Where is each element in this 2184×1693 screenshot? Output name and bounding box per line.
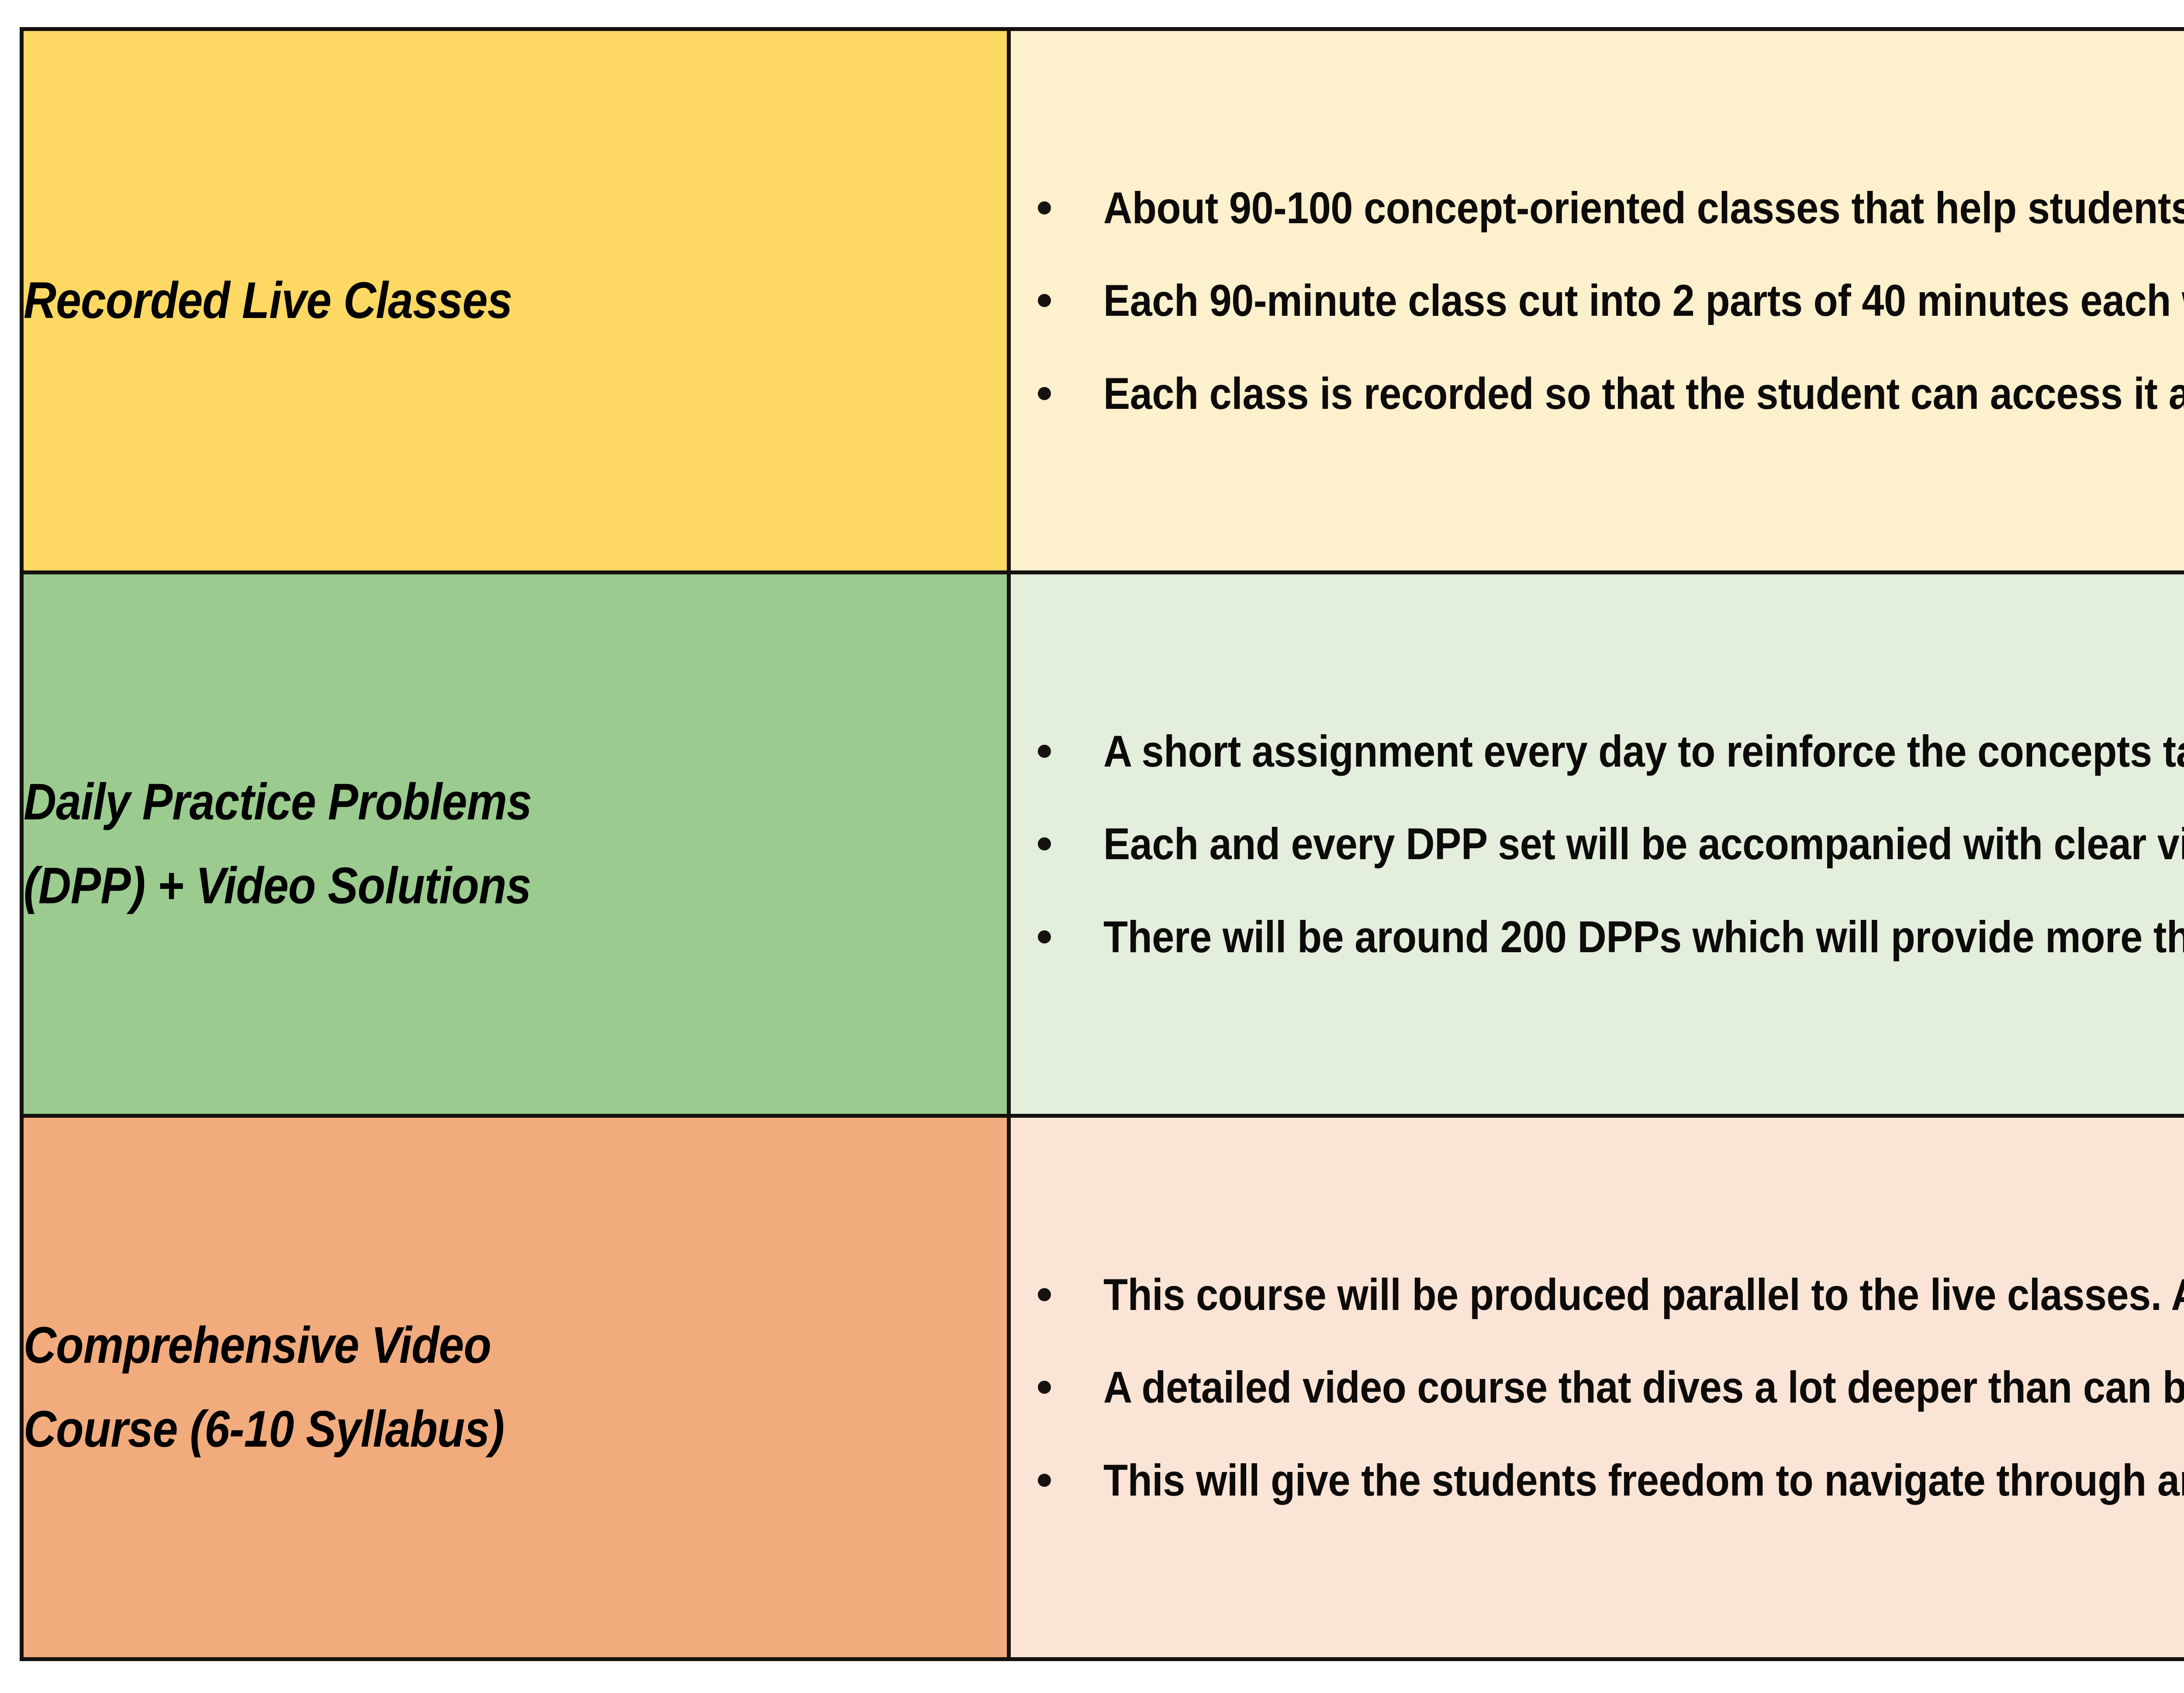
feature-label-comprehensive-video-course: Comprehensive Video Course (6-10 Syllabu…: [24, 1304, 889, 1471]
list-item: There will be around 200 DPPs which will…: [1011, 912, 2184, 962]
feature-detail-cell-comprehensive-video-course: This course will be produced parallel to…: [1009, 1116, 2184, 1659]
bullet-text: A detailed video course that dives a lot…: [1103, 1362, 2184, 1412]
bullet-point-icon: [1038, 201, 1051, 214]
bullet-text: This course will be produced parallel to…: [1103, 1270, 2184, 1320]
bullet-list: This course will be produced parallel to…: [1011, 1270, 2184, 1505]
list-item: This course will be produced parallel to…: [1011, 1270, 2184, 1320]
feature-label-daily-practice-problems: Daily Practice Problems (DPP) + Video So…: [24, 760, 889, 927]
feature-label-cell-comprehensive-video-course: Comprehensive Video Course (6-10 Syllabu…: [22, 1116, 1009, 1659]
bullet-text: A short assignment every day to reinforc…: [1103, 726, 2184, 776]
bullet-point-icon: [1038, 930, 1051, 943]
feature-detail-cell-recorded-live-classes: About 90-100 concept-oriented classes th…: [1009, 29, 2184, 573]
bullet-list: A short assignment every day to reinforc…: [1011, 726, 2184, 962]
bullet-text: Each and every DPP set will be accompani…: [1103, 819, 2184, 869]
table-row: Daily Practice Problems (DPP) + Video So…: [22, 573, 2184, 1116]
list-item: Each class is recorded so that the stude…: [1011, 369, 2184, 418]
bullet-text: Each 90-minute class cut into 2 parts of…: [1103, 276, 2184, 325]
list-item: A short assignment every day to reinforc…: [1011, 726, 2184, 776]
bullet-point-icon: [1038, 1381, 1051, 1394]
bullet-point-icon: [1038, 745, 1051, 758]
feature-label-recorded-live-classes: Recorded Live Classes: [24, 259, 889, 342]
feature-label-cell-recorded-live-classes: Recorded Live Classes: [22, 29, 1009, 573]
list-item: A detailed video course that dives a lot…: [1011, 1362, 2184, 1412]
feature-label-cell-daily-practice-problems: Daily Practice Problems (DPP) + Video So…: [22, 573, 1009, 1116]
label-line: (DPP) + Video Solutions: [24, 844, 889, 928]
bullet-list: About 90-100 concept-oriented classes th…: [1011, 183, 2184, 418]
list-item: Each and every DPP set will be accompani…: [1011, 819, 2184, 869]
bullet-text: There will be around 200 DPPs which will…: [1103, 912, 2184, 962]
label-line: Comprehensive Video: [24, 1304, 889, 1387]
bullet-point-icon: [1038, 1288, 1051, 1301]
bullet-point-icon: [1038, 1474, 1051, 1487]
label-line: Daily Practice Problems: [24, 760, 889, 844]
bullet-point-icon: [1038, 837, 1051, 850]
label-line: Recorded Live Classes: [24, 259, 889, 342]
list-item: Each 90-minute class cut into 2 parts of…: [1011, 276, 2184, 325]
course-features-table: Recorded Live Classes About 90-100 conce…: [20, 27, 2184, 1661]
table-row: Recorded Live Classes About 90-100 conce…: [22, 29, 2184, 573]
bullet-point-icon: [1038, 294, 1051, 307]
feature-detail-cell-daily-practice-problems: A short assignment every day to reinforc…: [1009, 573, 2184, 1116]
bullet-text: About 90-100 concept-oriented classes th…: [1103, 183, 2184, 233]
bullet-text: This will give the students freedom to n…: [1103, 1455, 2184, 1505]
label-line: Course (6-10 Syllabus): [24, 1388, 889, 1471]
list-item: About 90-100 concept-oriented classes th…: [1011, 183, 2184, 233]
bullet-point-icon: [1038, 387, 1051, 400]
list-item: This will give the students freedom to n…: [1011, 1455, 2184, 1505]
bullet-text: Each class is recorded so that the stude…: [1103, 369, 2184, 418]
table-row: Comprehensive Video Course (6-10 Syllabu…: [22, 1116, 2184, 1659]
